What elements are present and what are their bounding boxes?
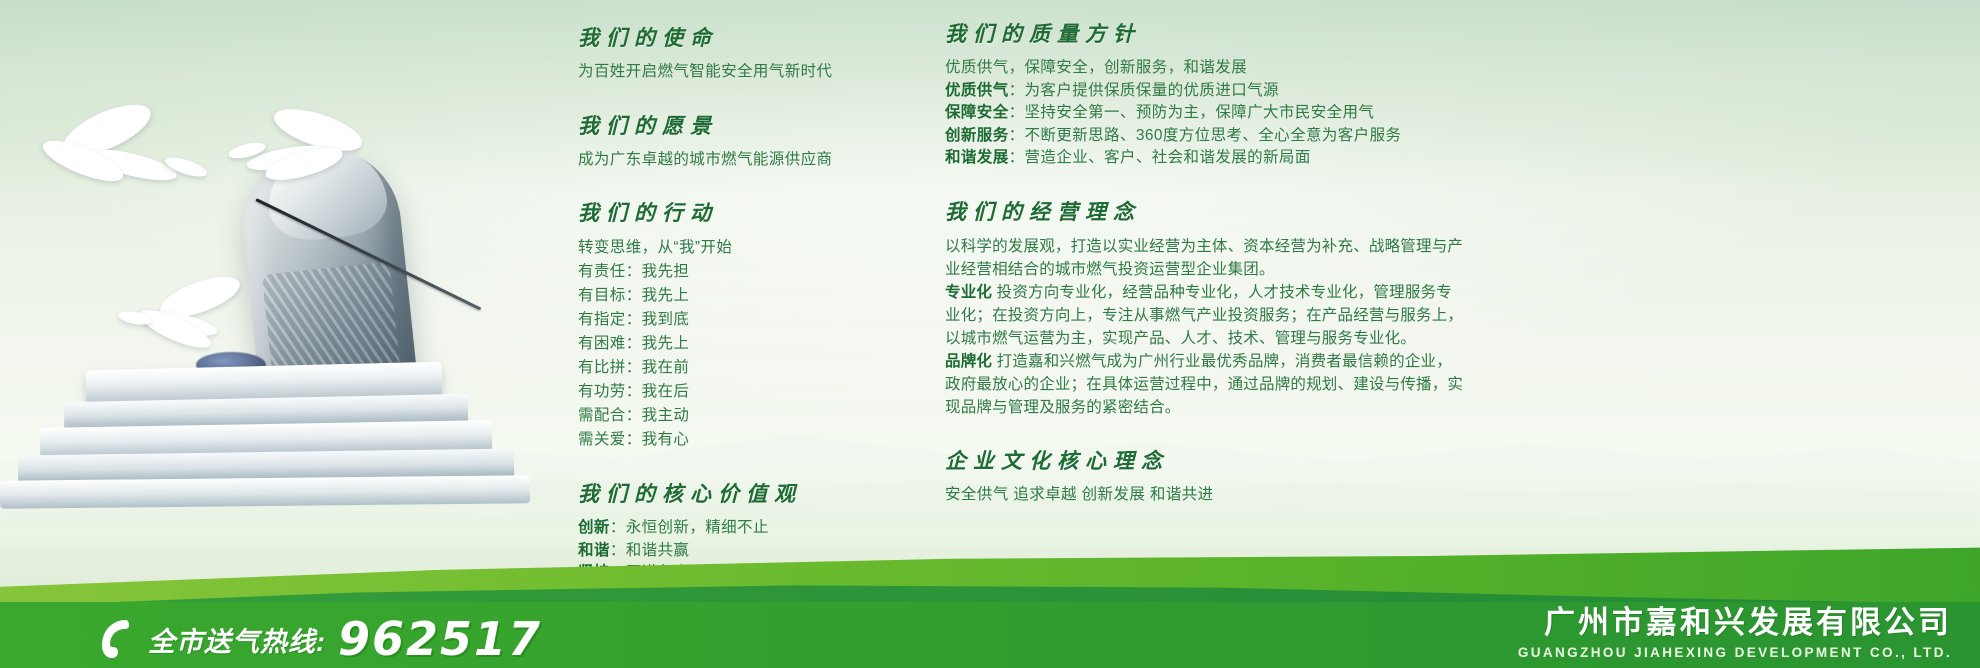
vision-heading: 我们的愿景 <box>578 110 908 140</box>
culture-core-heading: 企业文化核心理念 <box>945 445 1465 475</box>
quality-policy-summary: 优质供气，保障安全，创新服务，和谐发展 <box>945 57 1465 80</box>
vision-line: 成为广东卓越的城市燃气能源供应商 <box>578 149 908 172</box>
footer: 全市送气热线: 962517 广州市嘉和兴发展有限公司 GUANGZHOU JI… <box>0 528 1980 668</box>
dove-icon-lower-left <box>118 282 250 362</box>
business-philosophy-item: 品牌化 打造嘉和兴燃气成为广州行业最优秀品牌，消费者最信赖的企业，政府最放心的企… <box>945 350 1465 419</box>
right-text-column: 我们的质量方针 优质供气，保障安全，创新服务，和谐发展 优质供气：为客户提供保质… <box>945 18 1465 526</box>
quality-policy-label: 优质供气 <box>945 82 1009 99</box>
action-item: 需配合：我主动 <box>578 404 908 428</box>
quality-policy-sep: ： <box>1009 127 1025 144</box>
quality-policy-label: 和谐发展 <box>945 149 1009 166</box>
company-name-en: GUANGZHOU JIAHEXING DEVELOPMENT CO., LTD… <box>1518 643 1952 662</box>
quality-policy-sep: ： <box>1009 82 1025 99</box>
action-item: 有比拼：我在前 <box>578 356 908 380</box>
poster-canvas: 我们的使命 为百姓开启燃气智能安全用气新时代 我们的愿景 成为广东卓越的城市燃气… <box>0 0 1980 668</box>
middle-text-column: 我们的使命 为百姓开启燃气智能安全用气新时代 我们的愿景 成为广东卓越的城市燃气… <box>578 22 908 611</box>
quality-policy-sep: ： <box>1009 149 1025 166</box>
quality-policy-sep: ： <box>1009 104 1025 121</box>
quality-policy-item: 保障安全：坚持安全第一、预防为主，保障广大市民安全用气 <box>945 102 1465 125</box>
stone-monument-illustration <box>0 0 560 560</box>
quality-policy-label: 保障安全 <box>945 104 1009 121</box>
hotline-number: 962517 <box>338 616 542 662</box>
business-philosophy-intro: 以科学的发展观，打造以实业经营为主体、资本经营为补充、战略管理与产业经营相结合的… <box>945 235 1465 281</box>
section-culture-core: 企业文化核心理念 安全供气 追求卓越 创新发展 和谐共进 <box>945 445 1465 507</box>
business-philosophy-text: 投资方向专业化，经营品种专业化，人才技术专业化，管理服务专业化；在投资方向上，专… <box>945 284 1463 347</box>
dove-icon-upper-left <box>36 108 206 200</box>
dove-icon-upper-right <box>228 112 368 198</box>
hotline-label: 全市送气热线: <box>148 620 326 659</box>
mission-line: 为百姓开启燃气智能安全用气新时代 <box>578 61 908 84</box>
action-item: 有指定：我到底 <box>578 308 908 332</box>
business-philosophy-text: 打造嘉和兴燃气成为广州行业最优秀品牌，消费者最信赖的企业，政府最放心的企业；在具… <box>945 353 1463 416</box>
mission-heading: 我们的使命 <box>578 22 908 52</box>
action-item: 有责任：我先担 <box>578 260 908 284</box>
quality-policy-item: 和谐发展：营造企业、客户、社会和谐发展的新局面 <box>945 147 1465 170</box>
company-block: 广州市嘉和兴发展有限公司 GUANGZHOU JIAHEXING DEVELOP… <box>1518 605 1952 662</box>
section-business-philosophy: 我们的经营理念 以科学的发展观，打造以实业经营为主体、资本经营为补充、战略管理与… <box>945 196 1465 419</box>
section-mission: 我们的使命 为百姓开启燃气智能安全用气新时代 <box>578 22 908 84</box>
action-item: 有目标：我先上 <box>578 284 908 308</box>
action-intro: 转变思维，从“我”开始 <box>578 236 908 260</box>
quality-policy-text: 坚持安全第一、预防为主，保障广大市民安全用气 <box>1025 104 1375 121</box>
quality-policy-heading: 我们的质量方针 <box>945 18 1465 48</box>
core-values-heading: 我们的核心价值观 <box>578 478 908 508</box>
quality-policy-item: 创新服务：不断更新思路、360度方位思考、全心全意为客户服务 <box>945 125 1465 148</box>
quality-policy-label: 创新服务 <box>945 127 1009 144</box>
business-philosophy-label: 品牌化 <box>945 353 992 370</box>
quality-policy-text: 营造企业、客户、社会和谐发展的新局面 <box>1025 149 1311 166</box>
quality-policy-text: 不断更新思路、360度方位思考、全心全意为客户服务 <box>1025 127 1402 144</box>
pedestal-tier-5 <box>0 475 530 509</box>
section-vision: 我们的愿景 成为广东卓越的城市燃气能源供应商 <box>578 110 908 172</box>
action-item: 需关爱：我有心 <box>578 428 908 452</box>
quality-policy-text: 为客户提供保质保量的优质进口气源 <box>1025 82 1279 99</box>
section-quality-policy: 我们的质量方针 优质供气，保障安全，创新服务，和谐发展 优质供气：为客户提供保质… <box>945 18 1465 170</box>
action-item: 有功劳：我在后 <box>578 380 908 404</box>
quality-policy-item: 优质供气：为客户提供保质保量的优质进口气源 <box>945 80 1465 103</box>
action-item: 有困难：我先上 <box>578 332 908 356</box>
business-philosophy-heading: 我们的经营理念 <box>945 196 1465 226</box>
hotline-block: 全市送气热线: 962517 <box>96 616 542 662</box>
business-philosophy-label: 专业化 <box>945 284 992 301</box>
business-philosophy-item: 专业化 投资方向专业化，经营品种专业化，人才技术专业化，管理服务专业化；在投资方… <box>945 281 1465 350</box>
company-name-cn: 广州市嘉和兴发展有限公司 <box>1518 605 1952 641</box>
phone-icon <box>96 616 136 662</box>
section-action: 我们的行动 转变思维，从“我”开始 有责任：我先担 有目标：我先上 有指定：我到… <box>578 197 908 452</box>
action-heading: 我们的行动 <box>578 197 908 227</box>
culture-core-line: 安全供气 追求卓越 创新发展 和谐共进 <box>945 484 1465 507</box>
